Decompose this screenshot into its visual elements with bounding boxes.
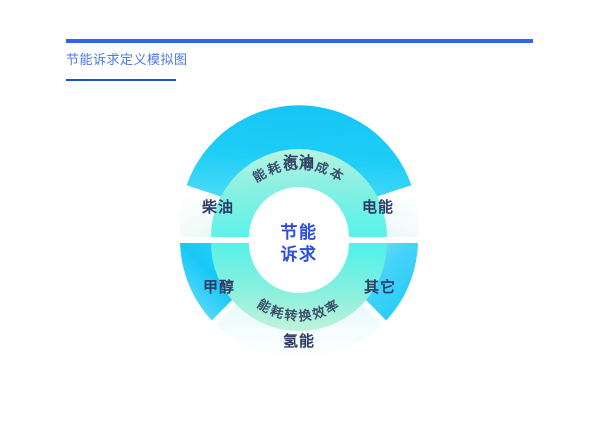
segment-label-qingneng: 氢能 [283, 332, 315, 350]
center-label-line1: 节能 [281, 222, 318, 243]
center-label-line2: 诉求 [281, 244, 318, 265]
segment-label-jiachun: 甲醇 [203, 278, 235, 296]
segment-label-qita: 其它 [364, 278, 396, 296]
segment-label-chaiyou: 柴油 [201, 198, 234, 216]
donut-chart-svg: 汽油 电能 其它 氢能 甲醇 柴油 能耗使用成本 能耗转换效率 节能 诉求 [0, 0, 600, 439]
segment-label-dianneng: 电能 [362, 198, 394, 216]
energy-demand-donut-chart: 汽油 电能 其它 氢能 甲醇 柴油 能耗使用成本 能耗转换效率 节能 诉求 [0, 0, 600, 439]
